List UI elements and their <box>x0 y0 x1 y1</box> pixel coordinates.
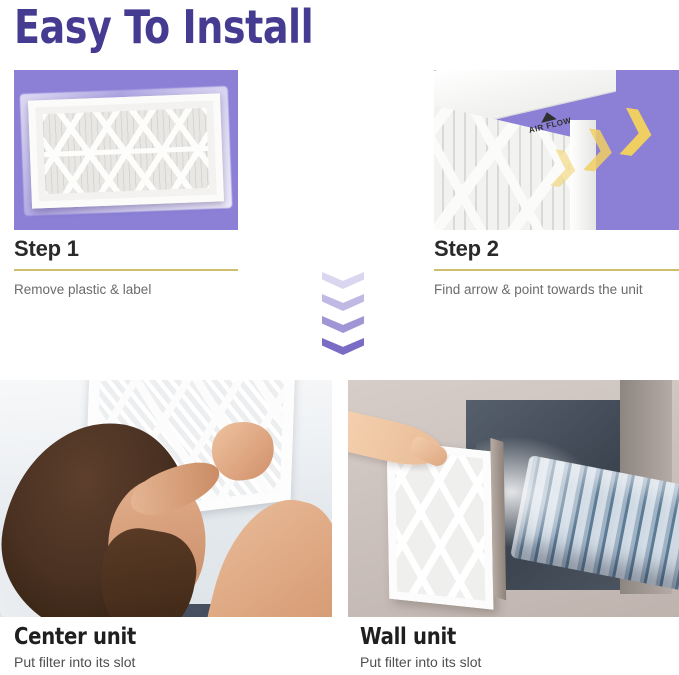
filter-mesh <box>43 108 210 194</box>
wall-unit-caption: Put filter into its slot <box>360 654 481 670</box>
chevron-down-icon <box>322 338 364 355</box>
step-1-title: Step 1 <box>14 236 238 269</box>
wall-filter-mesh <box>395 449 485 601</box>
step-1-image <box>14 70 238 230</box>
filter-edge <box>570 120 596 230</box>
step-2-divider <box>434 269 679 271</box>
step-1-photo <box>14 70 238 230</box>
filter-corner-illustration: AIR FLOW <box>434 74 625 230</box>
step-2-caption: Find arrow & point towards the unit <box>434 280 679 300</box>
wall-unit-caption-block: Wall unit Put filter into its slot <box>360 624 481 670</box>
filter-frame <box>28 93 224 208</box>
downward-arrow-stack <box>322 272 364 360</box>
wrapped-filter-illustration <box>28 93 224 208</box>
wall-unit-title: Wall unit <box>360 624 475 650</box>
chevron-down-icon <box>322 272 364 289</box>
page-title: Easy To Install <box>14 2 313 53</box>
step-2-title: Step 2 <box>434 236 679 269</box>
step-2-image: AIR FLOW <box>434 70 679 230</box>
step-2-label-block: Step 2 Find arrow & point towards the un… <box>434 236 679 300</box>
chevron-down-icon <box>322 294 364 311</box>
center-unit-caption-block: Center unit Put filter into its slot <box>14 624 142 670</box>
wall-unit-photo <box>348 380 679 617</box>
center-unit-title: Center unit <box>14 624 136 650</box>
easy-to-install-infographic: Easy To Install <box>0 0 679 675</box>
step-2-photo: AIR FLOW <box>434 70 679 230</box>
step-1-label-block: Step 1 Remove plastic & label <box>14 236 238 300</box>
step-1-caption: Remove plastic & label <box>14 280 238 300</box>
center-unit-photo <box>0 380 332 617</box>
step-1-divider <box>14 269 238 271</box>
chevron-down-icon <box>322 316 364 333</box>
center-unit-caption: Put filter into its slot <box>14 654 142 670</box>
filter-center-bar <box>44 146 208 157</box>
